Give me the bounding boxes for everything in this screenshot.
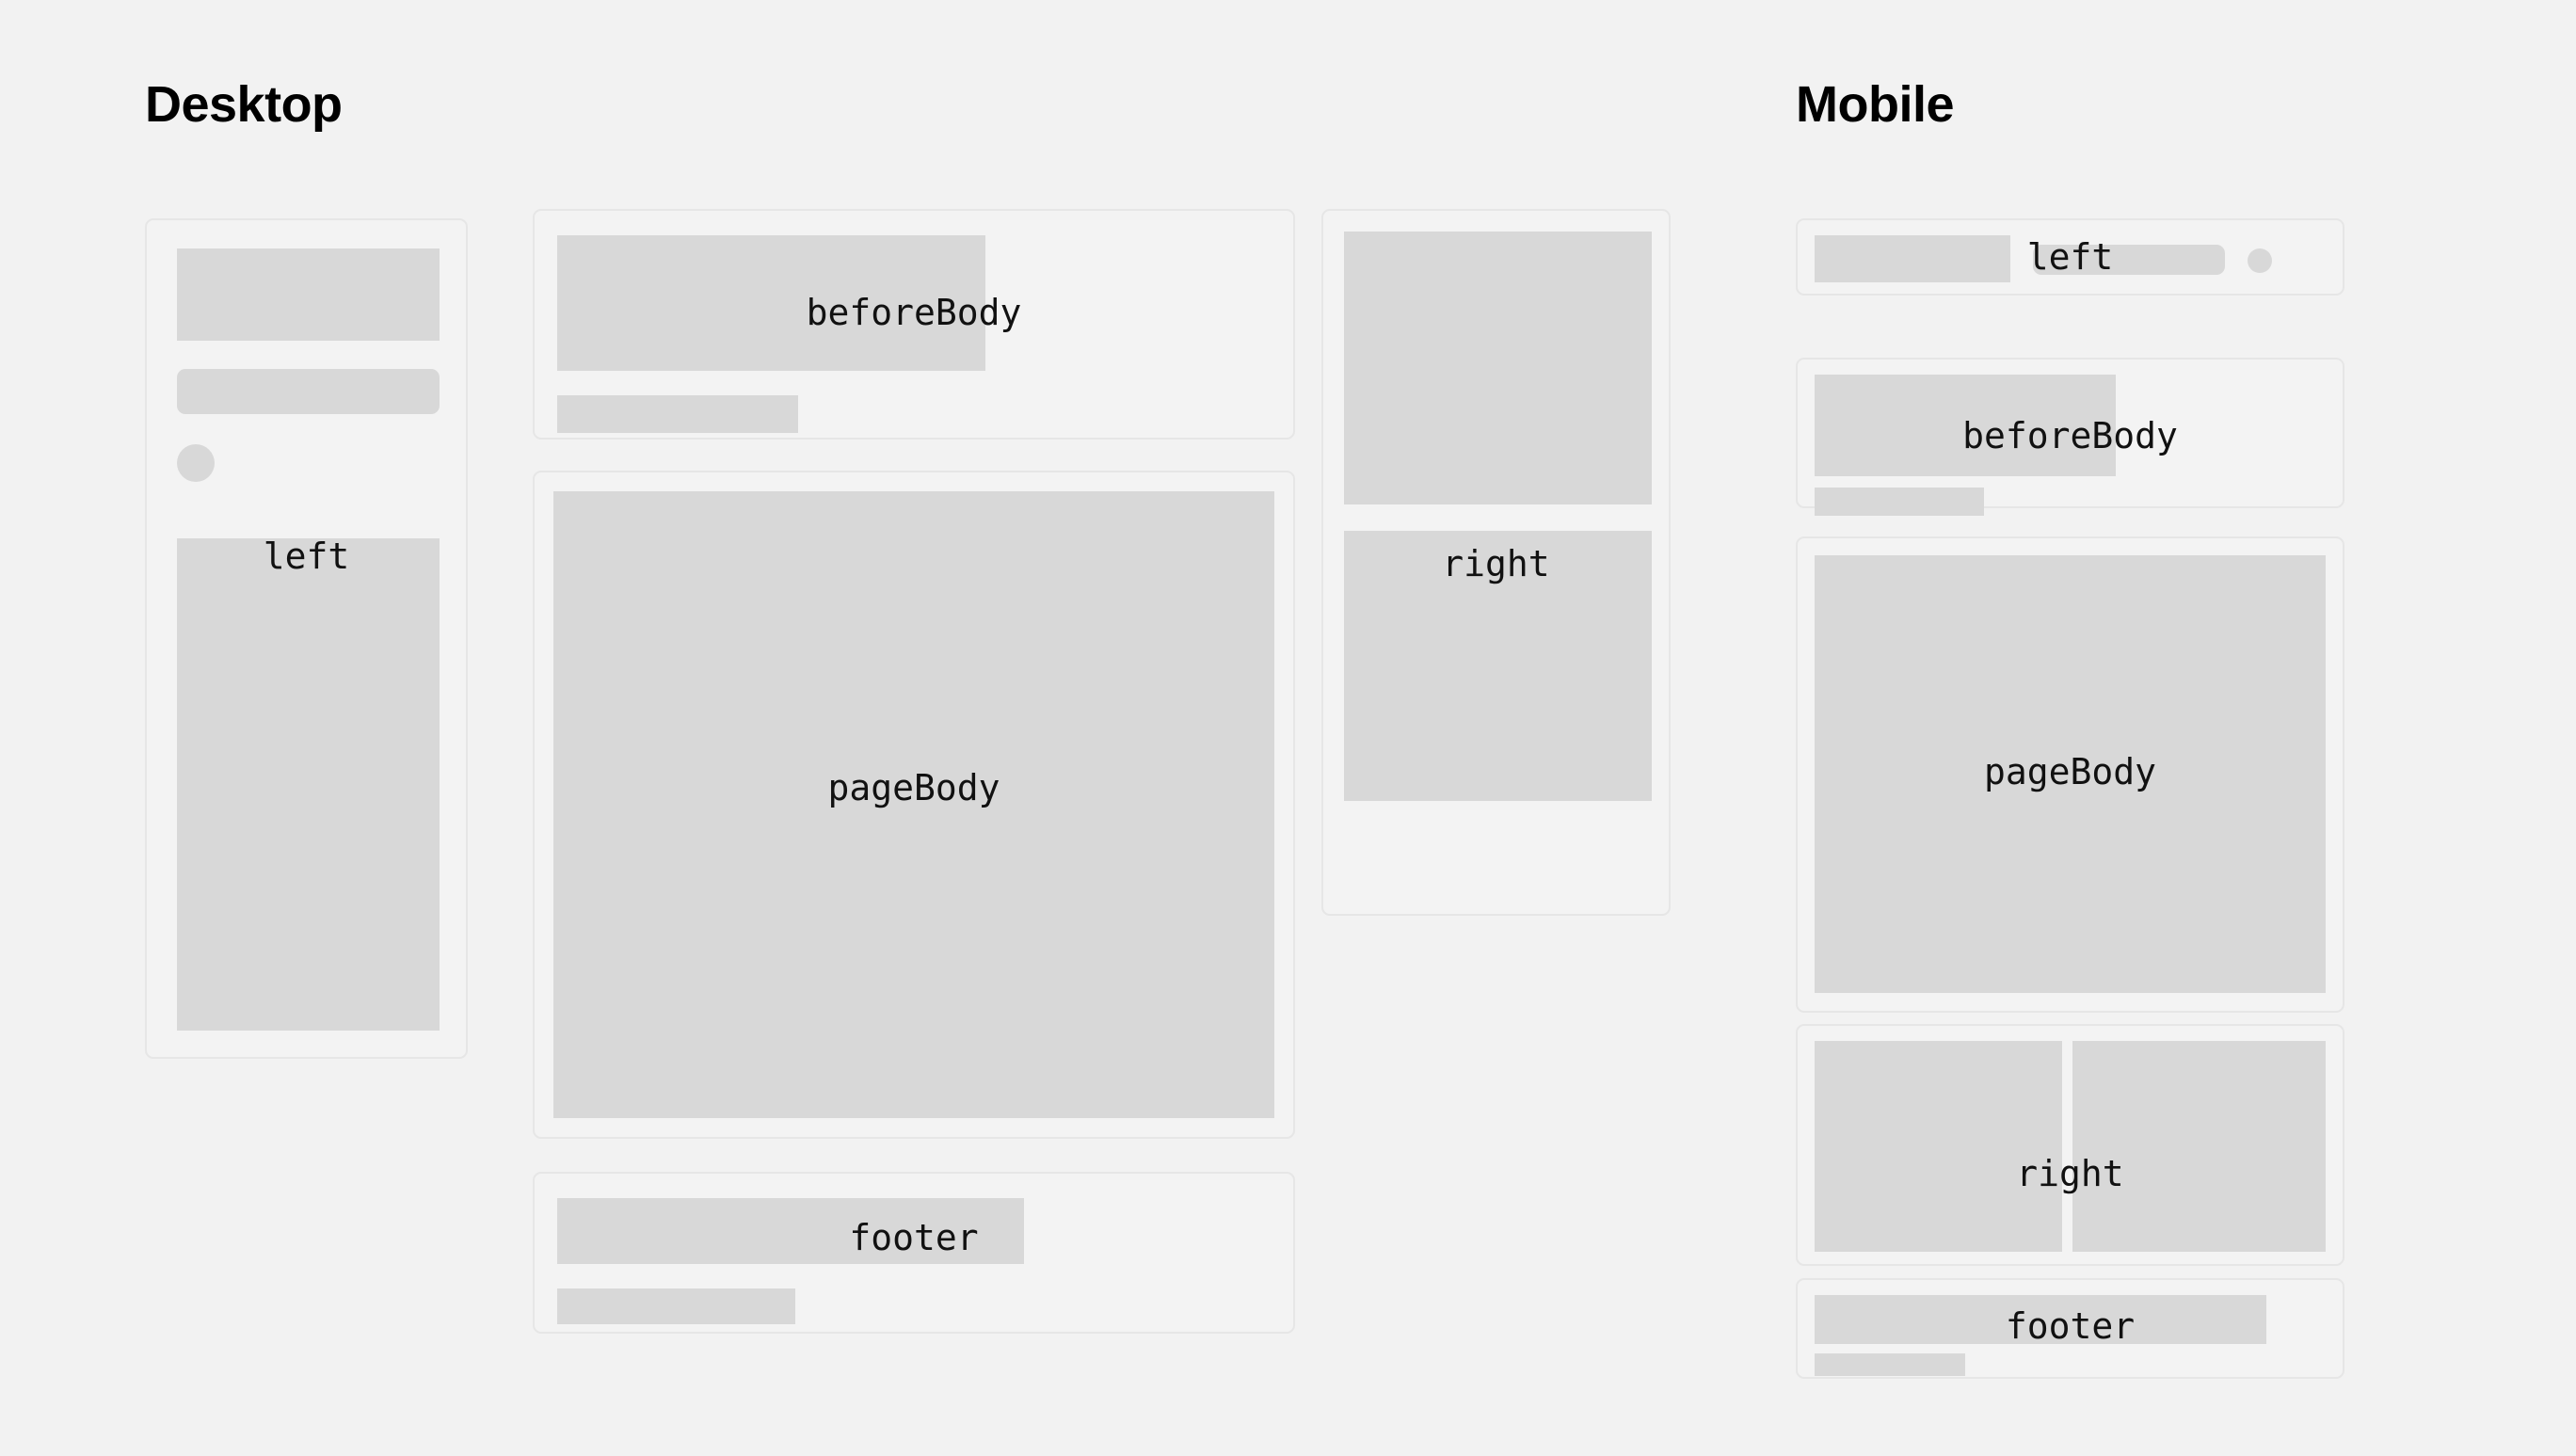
mobile-section-title: Mobile [1796, 79, 1954, 130]
mobile-right-region-panel[interactable] [1796, 1024, 2344, 1266]
mobile-right-widget-block-right [2072, 1041, 2326, 1252]
desktop-right-region-panel[interactable] [1321, 209, 1671, 916]
desktop-beforebody-banner-block [557, 235, 985, 371]
desktop-pagebody-content-block [553, 491, 1274, 1118]
mobile-left-header-block [1815, 235, 2010, 282]
mobile-beforebody-region-panel[interactable] [1796, 358, 2344, 508]
mobile-footer-region-panel[interactable] [1796, 1278, 2344, 1379]
mobile-footer-block [1815, 1295, 2266, 1344]
desktop-footer-block [557, 1198, 1024, 1264]
mobile-left-avatar-dot-icon [2248, 248, 2272, 273]
desktop-left-subheader-block [177, 369, 440, 414]
desktop-beforebody-region-panel[interactable] [533, 209, 1295, 440]
desktop-left-header-block [177, 248, 440, 341]
mobile-beforebody-banner-block [1815, 375, 2116, 476]
mobile-pagebody-content-block [1815, 555, 2326, 993]
desktop-beforebody-caption-block [557, 395, 798, 433]
desktop-pagebody-region-panel[interactable] [533, 471, 1295, 1139]
mobile-footer-caption-block [1815, 1353, 1965, 1376]
desktop-right-widget-block-top [1344, 232, 1652, 504]
mobile-right-widget-block-left [1815, 1041, 2062, 1252]
mobile-beforebody-caption-block [1815, 488, 1984, 516]
desktop-footer-region-panel[interactable] [533, 1172, 1295, 1334]
wireframe-canvas: Desktop left beforeBody pageBody right f… [0, 0, 2576, 1456]
desktop-left-region-panel[interactable] [145, 218, 468, 1059]
desktop-left-avatar-dot-icon [177, 444, 215, 482]
desktop-right-widget-block-bottom [1344, 531, 1652, 801]
mobile-left-region-panel[interactable] [1796, 218, 2344, 296]
desktop-section-title: Desktop [145, 79, 343, 130]
desktop-left-nav-block [177, 538, 440, 1031]
desktop-footer-caption-block [557, 1288, 795, 1324]
mobile-pagebody-region-panel[interactable] [1796, 536, 2344, 1013]
mobile-left-subheader-block [2033, 245, 2225, 275]
